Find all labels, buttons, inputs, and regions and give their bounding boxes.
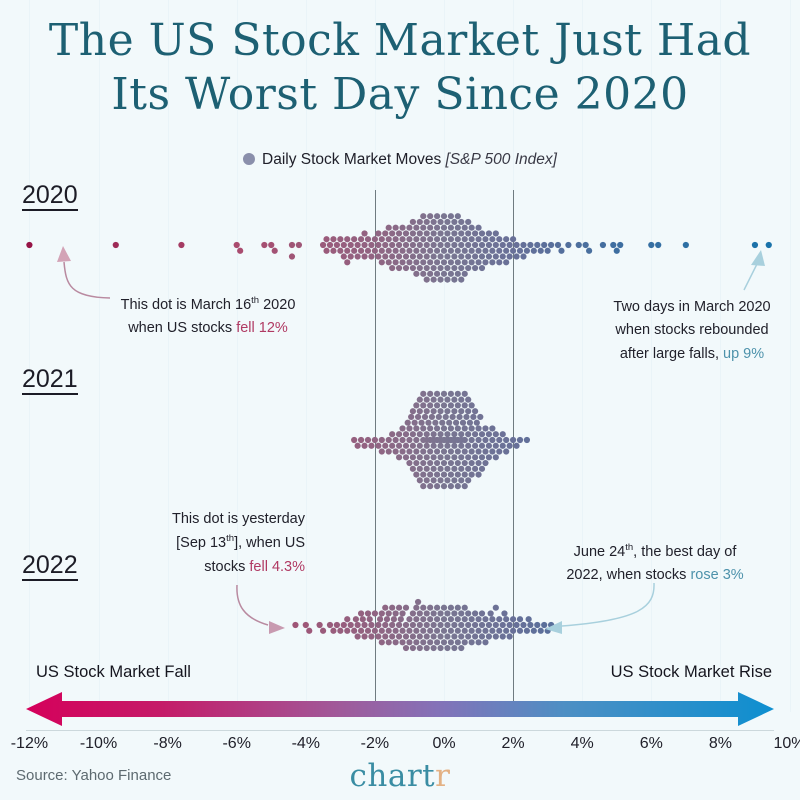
data-point [455, 225, 461, 231]
data-point [396, 454, 402, 460]
data-point [441, 472, 447, 478]
data-point [444, 230, 450, 236]
data-point [379, 259, 385, 265]
axis-tick: 6% [640, 735, 663, 753]
data-point [431, 454, 437, 460]
annotation-text: when US stocks [128, 320, 236, 336]
data-point [406, 425, 412, 431]
data-point [424, 610, 430, 616]
annotation-june-24-2022: June 24th, the best day of 2022, when st… [540, 540, 770, 588]
data-point [451, 242, 457, 248]
data-point [330, 236, 336, 242]
data-point [303, 622, 309, 628]
data-point [393, 639, 399, 645]
data-point [548, 242, 554, 248]
data-point [412, 420, 418, 426]
data-point [475, 248, 481, 254]
data-point [389, 431, 395, 437]
data-point [178, 242, 184, 248]
data-point [424, 645, 430, 651]
data-point [386, 225, 392, 231]
data-point [384, 616, 390, 622]
data-point [424, 242, 430, 248]
data-point [360, 616, 366, 622]
data-point [417, 408, 423, 414]
data-point [520, 253, 526, 259]
page-title: The US Stock Market Just Had Its Worst D… [0, 14, 800, 121]
data-point [403, 265, 409, 271]
data-point [479, 622, 485, 628]
data-point [548, 622, 554, 628]
beeswarm-row-2021 [0, 385, 800, 495]
data-point [431, 622, 437, 628]
data-point [538, 628, 544, 634]
data-point [417, 645, 423, 651]
data-point [306, 628, 312, 634]
data-point [469, 460, 475, 466]
data-point [441, 248, 447, 254]
data-point [427, 213, 433, 219]
data-point [410, 443, 416, 449]
data-point [463, 414, 469, 420]
data-point [455, 248, 461, 254]
data-point [375, 633, 381, 639]
data-point [434, 225, 440, 231]
data-point [424, 265, 430, 271]
data-point [382, 622, 388, 628]
data-point [434, 425, 440, 431]
data-point [403, 253, 409, 259]
data-point [486, 622, 492, 628]
axis-tick: 8% [709, 735, 732, 753]
data-point [462, 472, 468, 478]
data-point [475, 448, 481, 454]
data-point [431, 645, 437, 651]
data-point [396, 253, 402, 259]
data-point [417, 633, 423, 639]
data-point [393, 236, 399, 242]
data-point [420, 460, 426, 466]
data-point [437, 219, 443, 225]
data-point [410, 633, 416, 639]
data-point [420, 448, 426, 454]
annotation-line: after large falls, up 9% [592, 343, 792, 366]
data-point [465, 454, 471, 460]
data-point [389, 605, 395, 611]
data-point [474, 420, 480, 426]
data-point [482, 628, 488, 634]
data-point [467, 420, 473, 426]
data-point [393, 610, 399, 616]
data-point [424, 253, 430, 259]
logo-text-main: chart [350, 758, 436, 794]
annotation-highlight: fell 4.3% [249, 559, 305, 575]
data-point [427, 425, 433, 431]
data-point [424, 219, 430, 225]
data-point [441, 616, 447, 622]
data-point [358, 628, 364, 634]
data-point [475, 259, 481, 265]
data-point [465, 265, 471, 271]
data-point [410, 645, 416, 651]
data-point [399, 448, 405, 454]
data-point [448, 448, 454, 454]
data-point [437, 277, 443, 283]
data-point [451, 466, 457, 472]
data-point [417, 242, 423, 248]
data-point [399, 437, 405, 443]
data-point [507, 253, 513, 259]
data-point [372, 236, 378, 242]
axis-tick: -2% [361, 735, 389, 753]
annotation-text-cont: , the best day of [633, 544, 736, 560]
data-point [330, 628, 336, 634]
data-point [403, 454, 409, 460]
data-point [434, 605, 440, 611]
data-point [382, 443, 388, 449]
data-point [406, 460, 412, 466]
data-point [475, 425, 481, 431]
data-point [493, 605, 499, 611]
data-point [361, 622, 367, 628]
data-point [455, 460, 461, 466]
data-point [475, 472, 481, 478]
data-point [503, 259, 509, 265]
data-point [510, 248, 516, 254]
data-point [545, 628, 551, 634]
data-point [444, 397, 450, 403]
data-point [583, 242, 589, 248]
data-point [458, 408, 464, 414]
data-point [648, 242, 654, 248]
data-point [406, 236, 412, 242]
data-point [482, 616, 488, 622]
data-point [507, 622, 513, 628]
data-point [465, 242, 471, 248]
data-point [462, 236, 468, 242]
data-point [441, 402, 447, 408]
data-point [683, 242, 689, 248]
data-point [444, 633, 450, 639]
data-point [396, 265, 402, 271]
data-point [417, 610, 423, 616]
data-point [431, 219, 437, 225]
data-point [513, 443, 519, 449]
data-point [489, 425, 495, 431]
data-point [413, 225, 419, 231]
data-point [386, 448, 392, 454]
data-point [437, 253, 443, 259]
data-point [417, 230, 423, 236]
axis-tick: -12% [11, 735, 48, 753]
data-point [420, 213, 426, 219]
data-point [348, 242, 354, 248]
data-point [413, 616, 419, 622]
data-point [410, 230, 416, 236]
data-point [482, 437, 488, 443]
data-point [431, 431, 437, 437]
data-point [655, 242, 661, 248]
data-point [386, 437, 392, 443]
data-point [448, 425, 454, 431]
data-point [462, 483, 468, 489]
data-point [420, 271, 426, 277]
data-point [365, 248, 371, 254]
data-point [396, 431, 402, 437]
data-point [427, 483, 433, 489]
data-point [437, 622, 443, 628]
data-point [469, 448, 475, 454]
data-point [403, 622, 409, 628]
data-point [351, 628, 357, 634]
data-point [427, 460, 433, 466]
data-point [424, 397, 430, 403]
data-point [469, 225, 475, 231]
data-point [479, 253, 485, 259]
data-point [424, 633, 430, 639]
data-point [424, 466, 430, 472]
data-point [379, 236, 385, 242]
data-point [420, 425, 426, 431]
data-point [437, 454, 443, 460]
data-point [437, 466, 443, 472]
data-point [441, 391, 447, 397]
data-point [431, 253, 437, 259]
data-point [420, 402, 426, 408]
data-point [462, 402, 468, 408]
data-point [458, 610, 464, 616]
data-point [469, 639, 475, 645]
data-point [393, 437, 399, 443]
data-point [458, 277, 464, 283]
data-point [496, 248, 502, 254]
data-point [448, 213, 454, 219]
data-point [462, 448, 468, 454]
data-point [424, 431, 430, 437]
data-point [386, 628, 392, 634]
data-point [455, 628, 461, 634]
data-point [600, 242, 606, 248]
data-point [389, 242, 395, 248]
data-point [441, 605, 447, 611]
data-point [465, 431, 471, 437]
data-point [510, 616, 516, 622]
legend-dot-icon [243, 153, 255, 165]
data-point [437, 265, 443, 271]
data-point [424, 622, 430, 628]
data-point [472, 408, 478, 414]
data-point [427, 271, 433, 277]
data-point [455, 639, 461, 645]
annotation-text-cont: ], when US [234, 535, 305, 551]
data-point [458, 265, 464, 271]
data-point [510, 236, 516, 242]
data-point [406, 248, 412, 254]
data-point [462, 271, 468, 277]
data-point [341, 242, 347, 248]
data-point [451, 454, 457, 460]
data-point [448, 391, 454, 397]
data-point [399, 639, 405, 645]
axis-tick: -4% [292, 735, 320, 753]
data-point [486, 431, 492, 437]
legend-label: Daily Stock Market Moves [262, 151, 445, 168]
data-point [368, 253, 374, 259]
annotation-line: when US stocks fell 12% [98, 317, 318, 340]
data-point [344, 236, 350, 242]
data-point [320, 628, 326, 634]
data-point [475, 236, 481, 242]
data-point [406, 639, 412, 645]
data-point [465, 253, 471, 259]
data-point [396, 622, 402, 628]
data-point [406, 259, 412, 265]
data-point [500, 431, 506, 437]
data-point [367, 616, 373, 622]
data-point [469, 437, 475, 443]
data-point [368, 633, 374, 639]
data-point [375, 622, 381, 628]
data-point [425, 420, 431, 426]
data-point [427, 639, 433, 645]
data-point [429, 414, 435, 420]
annotation-line: 2022, when stocks rose 3% [540, 564, 770, 587]
data-point [289, 242, 295, 248]
data-point [427, 236, 433, 242]
data-point [469, 628, 475, 634]
data-point [475, 225, 481, 231]
data-point [472, 431, 478, 437]
data-point [379, 610, 385, 616]
data-point [448, 248, 454, 254]
data-point [413, 628, 419, 634]
data-point [361, 443, 367, 449]
annotation-ordinal-suffix: th [625, 542, 633, 553]
data-point [431, 397, 437, 403]
data-point [451, 277, 457, 283]
data-point [365, 628, 371, 634]
data-point [448, 271, 454, 277]
data-point [458, 454, 464, 460]
data-point [448, 225, 454, 231]
data-point [455, 425, 461, 431]
data-point [420, 391, 426, 397]
data-point [431, 408, 437, 414]
data-point [444, 277, 450, 283]
data-point [393, 248, 399, 254]
data-point [424, 230, 430, 236]
data-point [441, 460, 447, 466]
data-point [493, 633, 499, 639]
data-point [420, 483, 426, 489]
data-point [361, 230, 367, 236]
data-point [482, 639, 488, 645]
data-point [399, 610, 405, 616]
data-point [399, 259, 405, 265]
data-point [489, 248, 495, 254]
data-point [330, 248, 336, 254]
data-point [462, 616, 468, 622]
title-line-1: The US Stock Market Just Had [49, 15, 751, 66]
data-point [396, 443, 402, 449]
data-point [417, 219, 423, 225]
data-point [444, 408, 450, 414]
data-point [355, 622, 361, 628]
data-point [486, 242, 492, 248]
axis-tick: -8% [153, 735, 181, 753]
data-point [268, 242, 274, 248]
data-point [488, 610, 494, 616]
data-point [389, 253, 395, 259]
data-point [413, 236, 419, 242]
data-point [462, 259, 468, 265]
data-point [410, 265, 416, 271]
data-point [462, 391, 468, 397]
data-point [469, 248, 475, 254]
data-point [472, 443, 478, 449]
data-point [493, 622, 499, 628]
data-point [534, 622, 540, 628]
data-point [443, 414, 449, 420]
data-point [427, 472, 433, 478]
data-point [344, 616, 350, 622]
data-point [482, 248, 488, 254]
data-point [446, 420, 452, 426]
data-point [431, 466, 437, 472]
data-point [465, 230, 471, 236]
data-point [766, 242, 772, 248]
data-point [393, 259, 399, 265]
data-point [465, 633, 471, 639]
annotation-line: [Sep 13th], when US [150, 531, 305, 555]
annotation-text: stocks [204, 559, 249, 575]
data-point [406, 448, 412, 454]
data-point [458, 242, 464, 248]
data-point [379, 628, 385, 634]
data-point [379, 448, 385, 454]
data-point [427, 448, 433, 454]
data-point [417, 477, 423, 483]
data-point [482, 259, 488, 265]
data-point [372, 248, 378, 254]
data-point [455, 402, 461, 408]
chartr-logo: chartr [0, 758, 800, 794]
data-point [555, 242, 561, 248]
data-point [475, 639, 481, 645]
data-point [386, 259, 392, 265]
data-point [520, 242, 526, 248]
data-point [458, 443, 464, 449]
data-point [500, 622, 506, 628]
data-point [458, 477, 464, 483]
data-point [389, 230, 395, 236]
data-point [451, 477, 457, 483]
data-point [472, 622, 478, 628]
data-point [393, 628, 399, 634]
data-point [489, 628, 495, 634]
data-point [458, 633, 464, 639]
data-point [399, 628, 405, 634]
data-point [410, 622, 416, 628]
data-point [431, 443, 437, 449]
data-point [462, 460, 468, 466]
data-point [323, 248, 329, 254]
data-point [434, 236, 440, 242]
data-point [479, 242, 485, 248]
data-point [418, 420, 424, 426]
data-point [427, 225, 433, 231]
data-point [344, 248, 350, 254]
